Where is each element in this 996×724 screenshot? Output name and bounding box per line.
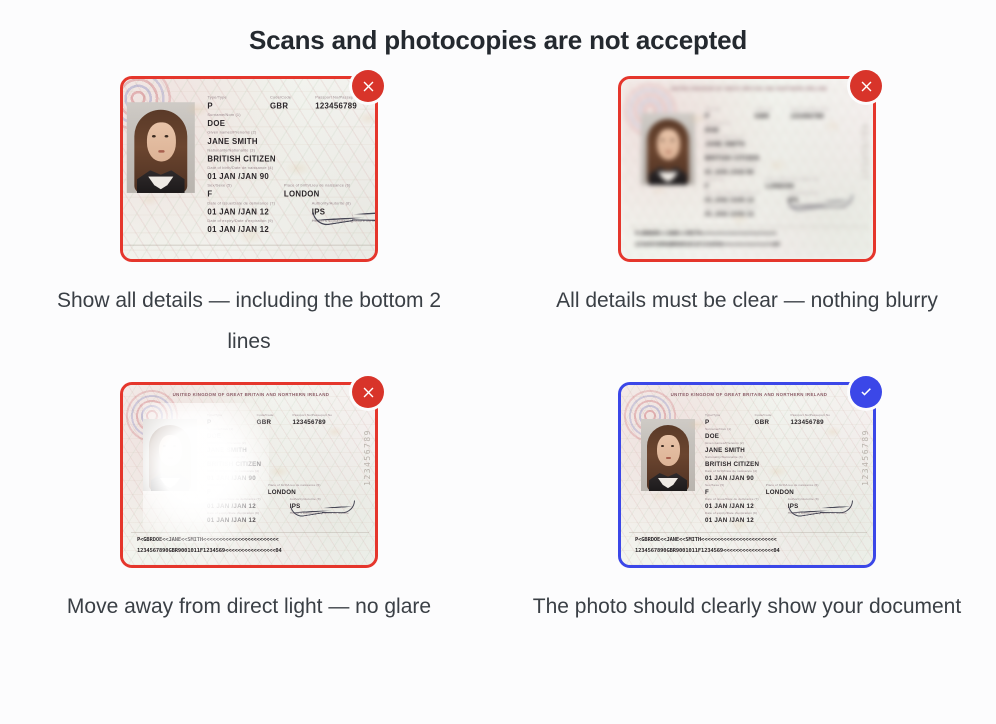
examples-grid: UNITED KINGDOM OF GREAT BRITAIN AND NORT… bbox=[0, 58, 996, 627]
example-caption: All details must be clear — nothing blur… bbox=[532, 280, 962, 321]
field-value-date-of-birth: 01 JAN /JAN 90 bbox=[207, 474, 345, 483]
mrz-line-2: 1234567890GBR9001011F1234569<<<<<<<<<<<<… bbox=[635, 240, 863, 251]
field-value-type: P bbox=[207, 101, 270, 112]
portrait-photo bbox=[641, 113, 695, 185]
field-value-date-of-issue: 01 JAN /JAN 12 bbox=[207, 207, 311, 218]
field-value-place-of-birth: LONDON bbox=[766, 182, 843, 191]
example-caption: Move away from direct light — no glare bbox=[34, 586, 464, 627]
portrait-face bbox=[147, 122, 176, 161]
x-circle-icon bbox=[352, 70, 384, 102]
portrait-mouth bbox=[158, 150, 164, 152]
field-value-date-of-expiry: 01 JAN /JAN 12 bbox=[207, 516, 290, 525]
portrait-mouth bbox=[666, 457, 671, 459]
field-value-given-names: JANE SMITH bbox=[207, 446, 345, 455]
field-value-surname: DOE bbox=[705, 126, 843, 135]
field-value-place-of-birth: LONDON bbox=[268, 488, 345, 497]
field-value-sex: F bbox=[705, 182, 766, 191]
field-value-sex: F bbox=[207, 488, 268, 497]
field-value-date-of-issue: 01 JAN /JAN 12 bbox=[705, 196, 788, 205]
id-card-frame: UNITED KINGDOM OF GREAT BRITAIN AND NORT… bbox=[120, 382, 378, 568]
example-cell-glare: UNITED KINGDOM OF GREAT BRITAIN AND NORT… bbox=[0, 382, 498, 627]
field-value-passport-no: 123456789 bbox=[791, 112, 843, 121]
field-value-passport-no: 123456789 bbox=[293, 418, 345, 427]
id-card-face: UNITED KINGDOM OF GREAT BRITAIN AND NORT… bbox=[621, 385, 873, 565]
field-value-nationality: BRITISH CITIZEN bbox=[705, 460, 843, 469]
portrait-eye-right bbox=[671, 139, 674, 141]
field-value-code: GBR bbox=[257, 418, 293, 427]
example-caption: The photo should clearly show your docum… bbox=[532, 586, 962, 627]
example-card-glare[interactable]: UNITED KINGDOM OF GREAT BRITAIN AND NORT… bbox=[120, 382, 378, 568]
field-value-nationality: BRITISH CITIZEN bbox=[207, 460, 345, 469]
portrait-eye-right bbox=[165, 135, 169, 138]
example-caption: Show all details — including the bottom … bbox=[34, 280, 464, 362]
mrz-divider bbox=[131, 532, 369, 533]
portrait-face bbox=[657, 129, 680, 160]
portrait-face bbox=[657, 435, 680, 466]
document-header-text: UNITED KINGDOM OF GREAT BRITAIN AND NORT… bbox=[141, 392, 361, 397]
portrait-eye-left bbox=[661, 139, 664, 141]
mrz-lines: P<GBRDOE<<JANE<<SMITH<<<<<<<<<<<<<<<<<<<… bbox=[635, 229, 863, 251]
id-card-face: UNITED KINGDOM OF GREAT BRITAIN AND NORT… bbox=[621, 79, 873, 259]
example-cell-blurry: UNITED KINGDOM OF GREAT BRITAIN AND NORT… bbox=[498, 76, 996, 362]
mrz-line-1: P<GBRDOE<<JANE<<SMITH<<<<<<<<<<<<<<<<<<<… bbox=[137, 535, 365, 546]
holder-signature bbox=[310, 201, 378, 231]
id-photo-guidelines-page: Scans and photocopies are not accepted U… bbox=[0, 0, 996, 724]
holder-signature bbox=[289, 497, 360, 521]
id-card-frame: UNITED KINGDOM OF GREAT BRITAIN AND NORT… bbox=[618, 76, 876, 262]
example-card-blurry[interactable]: UNITED KINGDOM OF GREAT BRITAIN AND NORT… bbox=[618, 76, 876, 262]
portrait-eye-right bbox=[671, 445, 674, 447]
id-card-face: UNITED KINGDOM OF GREAT BRITAIN AND NORT… bbox=[120, 76, 378, 262]
portrait-photo bbox=[143, 419, 197, 491]
mrz-divider bbox=[120, 245, 378, 246]
field-value-type: P bbox=[705, 418, 755, 427]
field-value-given-names: JANE SMITH bbox=[705, 140, 843, 149]
mrz-line-1: P<GBRDOE<<JANE<<SMITH<<<<<<<<<<<<<<<<<<<… bbox=[635, 535, 863, 546]
field-value-passport-no: 123456789 bbox=[791, 418, 843, 427]
field-value-surname: DOE bbox=[705, 432, 843, 441]
field-value-surname: DOE bbox=[207, 432, 345, 441]
id-card-face: UNITED KINGDOM OF GREAT BRITAIN AND NORT… bbox=[123, 385, 375, 565]
field-value-place-of-birth: LONDON bbox=[284, 189, 378, 200]
vertical-passport-number: 123456789 bbox=[861, 123, 870, 180]
field-value-type: P bbox=[705, 112, 755, 121]
portrait-face bbox=[159, 435, 182, 466]
portrait-mouth bbox=[168, 457, 173, 459]
portrait-eye-left bbox=[661, 445, 664, 447]
field-value-code: GBR bbox=[270, 101, 315, 112]
field-value-place-of-birth: LONDON bbox=[766, 488, 843, 497]
example-cell-good: UNITED KINGDOM OF GREAT BRITAIN AND NORT… bbox=[498, 382, 996, 627]
mrz-divider bbox=[629, 226, 867, 227]
field-value-given-names: JANE SMITH bbox=[207, 136, 378, 147]
example-card-good[interactable]: UNITED KINGDOM OF GREAT BRITAIN AND NORT… bbox=[618, 382, 876, 568]
field-value-nationality: BRITISH CITIZEN bbox=[207, 154, 378, 165]
portrait-photo bbox=[641, 419, 695, 491]
field-value-date-of-issue: 01 JAN /JAN 12 bbox=[705, 502, 788, 511]
portrait-eye-left bbox=[152, 135, 156, 138]
field-value-date-of-expiry: 01 JAN /JAN 12 bbox=[207, 224, 311, 235]
holder-signature bbox=[787, 191, 858, 215]
page-title: Scans and photocopies are not accepted bbox=[0, 0, 996, 58]
field-value-date-of-birth: 01 JAN /JAN 90 bbox=[705, 474, 843, 483]
portrait-eye-right bbox=[173, 445, 176, 447]
field-value-sex: F bbox=[705, 488, 766, 497]
portrait-photo bbox=[127, 102, 195, 193]
mrz-line-1: P<GBRDOE<<JANE<<SMITH<<<<<<<<<<<<<<<<<<<… bbox=[635, 229, 863, 240]
field-value-code: GBR bbox=[755, 112, 791, 121]
mrz-lines: P<GBRDOE<<JANE<<SMITH<<<<<<<<<<<<<<<<<<<… bbox=[137, 535, 365, 557]
x-circle-icon bbox=[352, 376, 384, 408]
field-value-date-of-expiry: 01 JAN /JAN 12 bbox=[705, 210, 788, 219]
mrz-lines: P<GBRDOE<<JANE<<SMITH<<<<<<<<<<<<<<<<<<<… bbox=[635, 535, 863, 557]
field-value-date-of-issue: 01 JAN /JAN 12 bbox=[207, 502, 290, 511]
portrait-mouth bbox=[666, 151, 671, 153]
mrz-line-2: 1234567890GBR9001011F1234569<<<<<<<<<<<<… bbox=[137, 546, 365, 557]
example-cell-cropped: UNITED KINGDOM OF GREAT BRITAIN AND NORT… bbox=[0, 76, 498, 362]
mrz-divider bbox=[629, 532, 867, 533]
field-value-date-of-birth: 01 JAN /JAN 90 bbox=[705, 168, 843, 177]
id-card-frame: UNITED KINGDOM OF GREAT BRITAIN AND NORT… bbox=[120, 76, 378, 262]
holder-signature bbox=[787, 497, 858, 521]
check-circle-icon bbox=[850, 376, 882, 408]
mrz-line-2: 1234567890GBR9001011F1234569<<<<<<<<<<<<… bbox=[635, 546, 863, 557]
field-value-date-of-birth: 01 JAN /JAN 90 bbox=[207, 172, 378, 183]
field-value-code: GBR bbox=[755, 418, 791, 427]
field-value-passport-no: 123456789 bbox=[315, 101, 378, 112]
field-value-nationality: BRITISH CITIZEN bbox=[705, 154, 843, 163]
id-card-frame: UNITED KINGDOM OF GREAT BRITAIN AND NORT… bbox=[618, 382, 876, 568]
example-card-cropped[interactable]: UNITED KINGDOM OF GREAT BRITAIN AND NORT… bbox=[120, 76, 378, 262]
portrait-eye-left bbox=[163, 445, 166, 447]
field-value-type: P bbox=[207, 418, 257, 427]
document-header-text: UNITED KINGDOM OF GREAT BRITAIN AND NORT… bbox=[639, 86, 859, 91]
field-value-sex: F bbox=[207, 189, 284, 200]
x-circle-icon bbox=[850, 70, 882, 102]
field-value-date-of-expiry: 01 JAN /JAN 12 bbox=[705, 516, 788, 525]
vertical-passport-number: 123456789 bbox=[363, 429, 372, 486]
field-value-given-names: JANE SMITH bbox=[705, 446, 843, 455]
field-value-surname: DOE bbox=[207, 119, 378, 130]
vertical-passport-number: 123456789 bbox=[861, 429, 870, 486]
document-header-text: UNITED KINGDOM OF GREAT BRITAIN AND NORT… bbox=[639, 392, 859, 397]
